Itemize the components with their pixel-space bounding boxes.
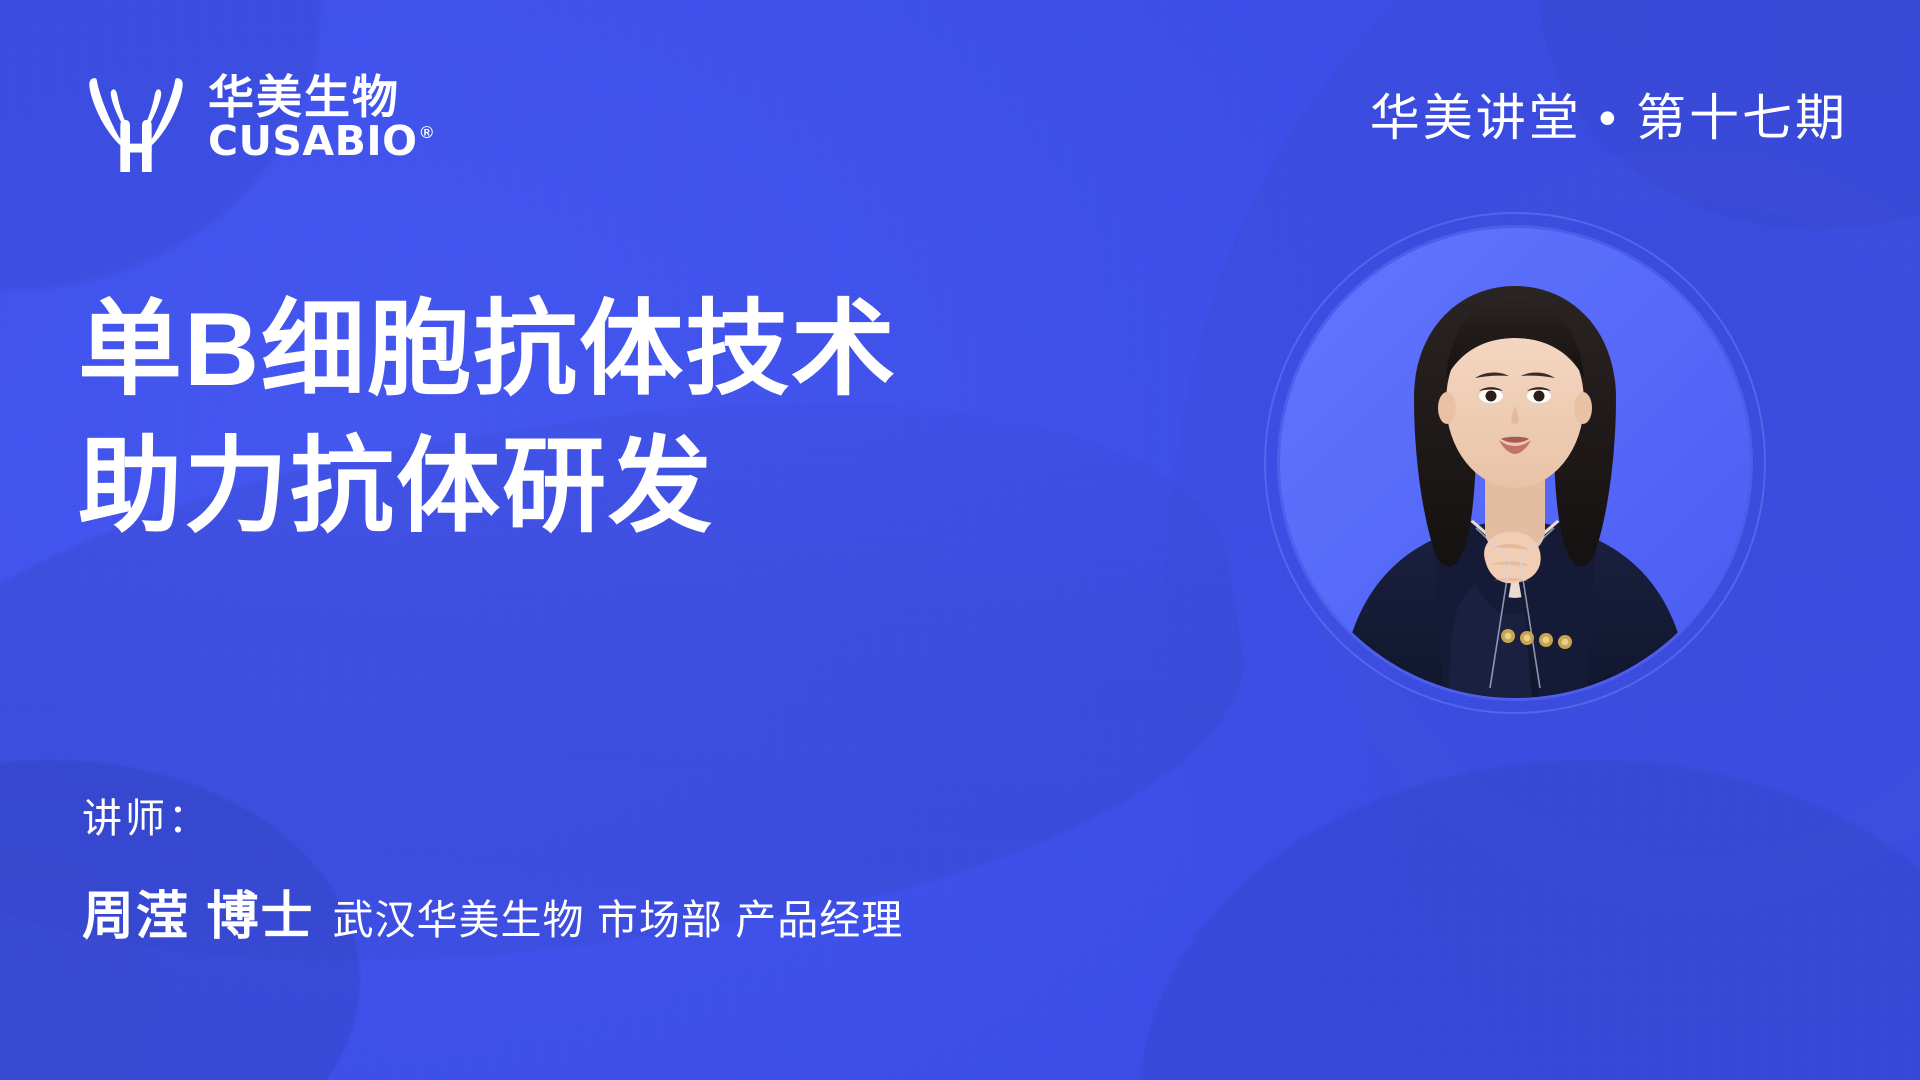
speaker-name: 周滢 博士	[82, 874, 314, 949]
speaker-label: 讲师：	[82, 786, 903, 844]
speaker-portrait-container	[1280, 228, 1750, 698]
cusabio-hands-butterfly-logo-icon	[78, 60, 194, 172]
speaker-portrait-photo	[1280, 228, 1750, 698]
brand-name-en: CUSABIO	[208, 121, 418, 162]
brand-logo: 华美生物 CUSABIO ®	[78, 60, 433, 172]
page-title: 单B细胞抗体技术 助力抗体研发	[78, 282, 897, 557]
brand-name-en-row: CUSABIO ®	[208, 121, 433, 162]
page-title-line-2: 助力抗体研发	[78, 419, 897, 556]
speaker-block: 讲师： 周滢 博士 武汉华美生物 市场部 产品经理	[82, 786, 903, 949]
webinar-poster: 华美生物 CUSABIO ® 华美讲堂 • 第十七期 单B细胞抗体技术 助力抗体…	[0, 0, 1920, 1080]
speaker-affiliation: 武汉华美生物 市场部 产品经理	[332, 886, 903, 946]
page-title-line-1: 单B细胞抗体技术	[78, 282, 897, 419]
decorative-blob-bottom-right	[1140, 760, 1920, 1080]
speaker-details: 周滢 博士 武汉华美生物 市场部 产品经理	[82, 874, 903, 949]
brand-name-cn: 华美生物	[208, 74, 433, 121]
brand-logo-wordmark: 华美生物 CUSABIO ®	[208, 74, 433, 162]
registered-trademark-icon: ®	[421, 123, 434, 143]
series-label: 华美讲堂 • 第十七期	[1370, 78, 1848, 150]
